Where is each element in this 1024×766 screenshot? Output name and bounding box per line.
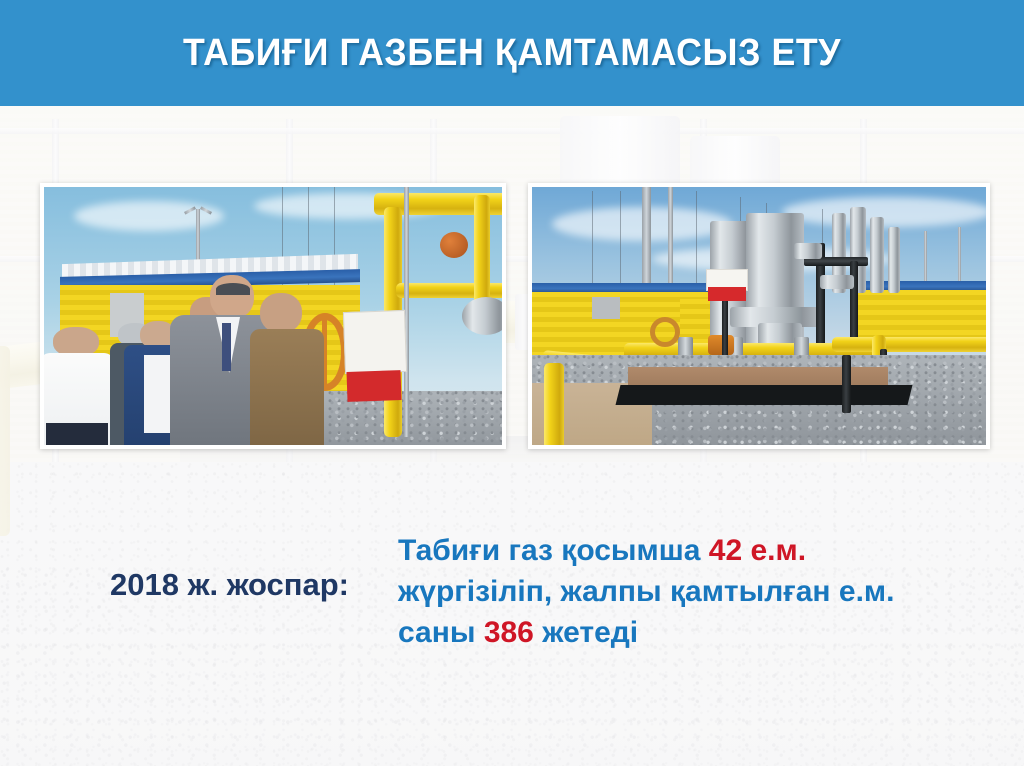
gas-distribution-equipment-photo — [528, 183, 990, 449]
flange — [794, 243, 822, 259]
title-banner: ТАБИҒИ ГАЗБЕН ҚАМТАМАСЫЗ ЕТУ — [0, 0, 1024, 106]
official-tie — [222, 323, 231, 371]
plan-label: 2018 ж. жоспар: — [110, 567, 349, 603]
pipe-cap — [440, 232, 468, 258]
red-sign — [708, 287, 746, 301]
person-trousers — [46, 423, 108, 445]
stat-text: жетеді — [534, 616, 638, 649]
red-sign — [346, 370, 401, 402]
gas-station-officials-photo — [40, 183, 506, 449]
stat-text: саны — [398, 616, 484, 649]
pipe-support-front — [842, 355, 851, 413]
valve-handwheel — [650, 317, 680, 347]
building-window — [592, 297, 620, 319]
valve-actuator — [708, 335, 734, 355]
stat-text: Табиғи газ қосымша — [398, 534, 709, 567]
official-head — [210, 275, 254, 319]
stat-line-2: жүргізіліп, жалпы қамтылған е.м. — [398, 572, 998, 613]
flange — [820, 275, 854, 289]
cloud — [782, 197, 986, 227]
gas-pipe-riser-front — [544, 363, 564, 445]
page-title: ТАБИҒИ ГАЗБЕН ҚАМТАМАСЫЗ ЕТУ — [183, 32, 841, 75]
stack-column — [888, 227, 900, 293]
warning-sign — [343, 310, 407, 374]
gas-pipe — [832, 337, 986, 352]
stat-text: жүргізіліп, жалпы қамтылған е.м. — [398, 575, 894, 608]
stat-highlight-42: 42 е.м. — [709, 534, 806, 567]
stat-line-1: Табиғи газ қосымша 42 е.м. — [398, 531, 998, 572]
valve-body — [462, 297, 502, 335]
official-hair — [216, 283, 250, 295]
slide: ТАБИҒИ ГАЗБЕН ҚАМТАМАСЫЗ ЕТУ — [0, 0, 1024, 766]
person-body — [250, 329, 324, 445]
person-head — [260, 293, 302, 333]
pad-front-edge — [616, 385, 913, 405]
statistics-text: Табиғи газ қосымша 42 е.м. жүргізіліп, ж… — [398, 531, 998, 653]
stat-line-3: саны 386 жетеді — [398, 613, 998, 654]
stat-highlight-386: 386 — [484, 616, 534, 649]
person-shirt — [144, 355, 170, 433]
stack-column — [870, 217, 884, 293]
